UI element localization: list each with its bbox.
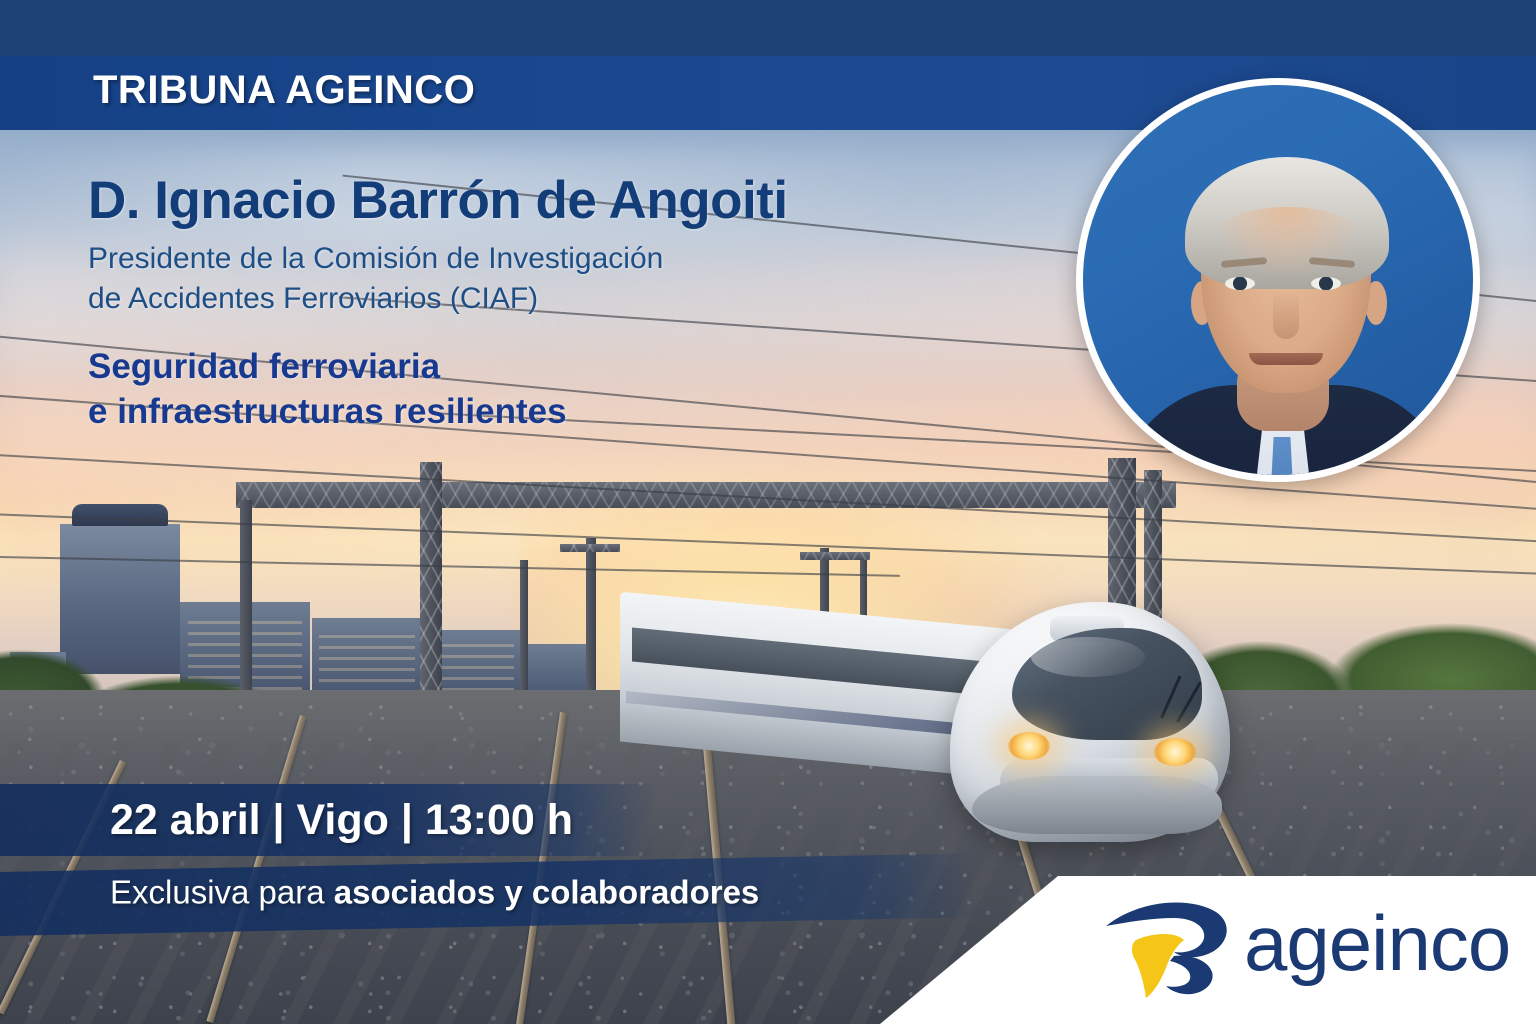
catenary-mast: [586, 538, 596, 708]
train-headlight: [1154, 738, 1196, 766]
ageinco-swoosh-mark: [1104, 898, 1234, 1002]
catenary-mast: [420, 462, 442, 712]
train-skirt: [972, 776, 1222, 834]
ageinco-logo: ageinco: [1104, 898, 1504, 1008]
portrait-mouth: [1249, 353, 1323, 365]
header-title: TRIBUNA AGEINCO: [93, 68, 475, 113]
speaker-name: D. Ignacio Barrón de Angoiti: [88, 172, 988, 229]
audience-emphasis: asociados y colaboradores: [334, 874, 760, 911]
portrait-eye: [1311, 277, 1341, 290]
speaker-role: Presidente de la Comisión de Investigaci…: [88, 239, 988, 319]
speaker-role-line-1: Presidente de la Comisión de Investigaci…: [88, 242, 663, 275]
speaker-block: D. Ignacio Barrón de Angoiti Presidente …: [88, 172, 988, 435]
portrait-eye: [1225, 277, 1255, 290]
train-windshield: [1012, 628, 1202, 740]
poster-canvas: TRIBUNA AGEINCO D. Ignacio Barrón de Ang…: [0, 0, 1536, 1024]
portrait-hair: [1185, 157, 1389, 289]
event-date-text: 22 abril | Vigo | 13:00 h: [110, 796, 573, 845]
speaker-role-line-2: de Accidentes Ferroviarios (CIAF): [88, 282, 538, 315]
catenary-mast: [240, 500, 252, 710]
audience-prefix: Exclusiva para: [110, 874, 334, 911]
top-strip: [0, 0, 1536, 56]
catenary-arm: [560, 544, 620, 552]
catenary-mast: [520, 560, 528, 710]
train-headlight: [1008, 732, 1050, 760]
high-speed-train: [620, 580, 1220, 840]
audience-text: Exclusiva para asociados y colaboradores: [110, 874, 759, 912]
portrait-nose: [1273, 291, 1299, 339]
talk-topic: Seguridad ferroviaria e infraestructuras…: [88, 345, 988, 435]
ageinco-wordmark: ageinco: [1244, 904, 1510, 982]
catenary-arm: [800, 552, 870, 560]
talk-topic-line-1: Seguridad ferroviaria: [88, 347, 440, 386]
speaker-portrait: [1076, 78, 1480, 482]
event-date-band: 22 abril | Vigo | 13:00 h: [0, 784, 660, 856]
talk-topic-line-2: e infraestructuras resilientes: [88, 392, 567, 431]
skyline-tower-crown: [72, 504, 168, 526]
